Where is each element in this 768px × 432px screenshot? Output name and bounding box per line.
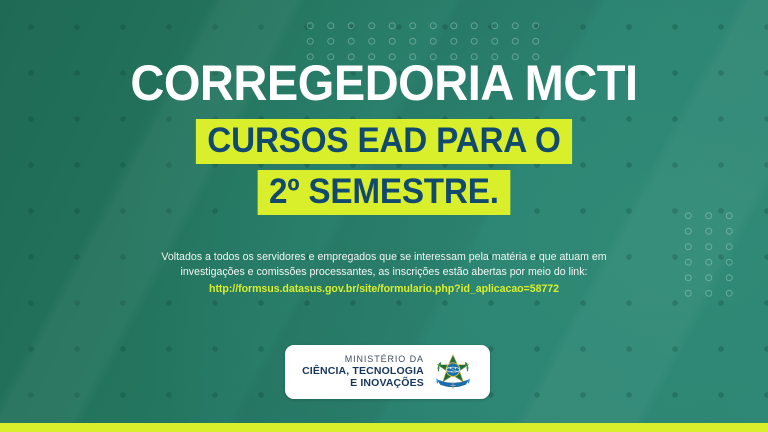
promotional-banner: CORREGEDORIA MCTI CURSOS EAD PARA O 2º S… [0,0,768,432]
banner-subtitle-line2: 2º SEMESTRE. [258,170,511,215]
ministry-logo-card: MINISTÉRIO DA CIÊNCIA, TECNOLOGIA E INOV… [285,345,490,399]
description-line-1: Voltados a todos os servidores e emprega… [134,250,634,265]
subtitle-line2-container: 2º SEMESTRE. [0,170,768,215]
banner-title: CORREGEDORIA MCTI [23,58,745,108]
ministry-logo-line3: E INOVAÇÕES [302,377,424,389]
ministry-logo-line2: CIÊNCIA, TECNOLOGIA [302,365,424,377]
registration-link[interactable]: http://formsus.datasus.gov.br/site/formu… [134,282,634,297]
subtitle-line1-container: CURSOS EAD PARA O [0,119,768,164]
ministry-logo-line1: MINISTÉRIO DA [302,354,424,365]
ministry-logo-text: MINISTÉRIO DA CIÊNCIA, TECNOLOGIA E INOV… [302,354,424,389]
banner-content: CORREGEDORIA MCTI CURSOS EAD PARA O 2º S… [0,0,768,432]
brazil-coat-of-arms-icon [433,352,473,392]
bottom-accent-bar [0,423,768,432]
banner-description: Voltados a todos os servidores e emprega… [134,250,634,297]
banner-subtitle-line1: CURSOS EAD PARA O [196,119,572,164]
ministry-logo: MINISTÉRIO DA CIÊNCIA, TECNOLOGIA E INOV… [302,352,473,392]
description-line-2: investigações e comissões processantes, … [134,265,634,280]
